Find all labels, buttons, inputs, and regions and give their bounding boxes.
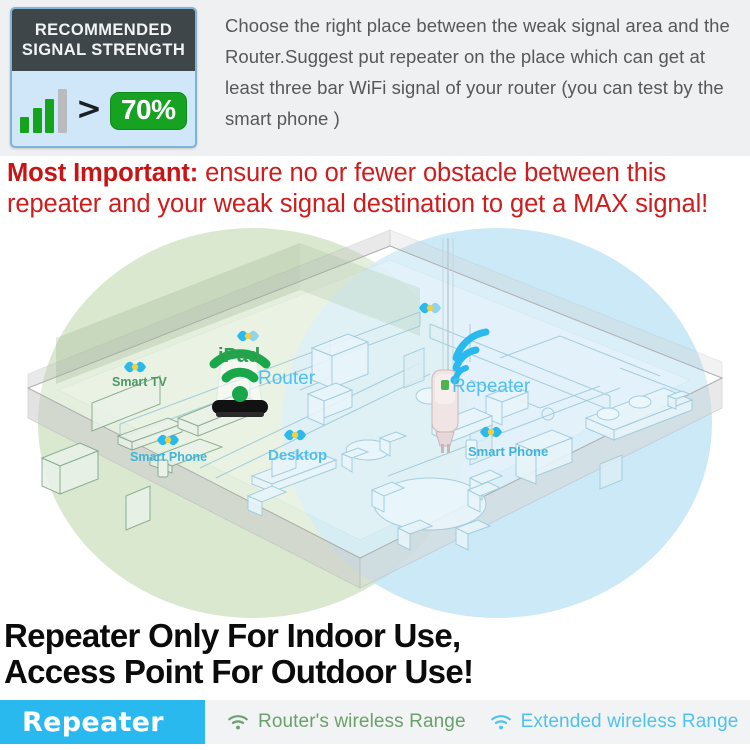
label-repeater: Repeater (452, 376, 531, 397)
legend-label-extended-range: Extended wireless Range (521, 711, 739, 733)
floorplan-diagram: Smart TV iPad Router Repeater Smart Phon… (0, 228, 750, 618)
headline-line2: Access Point For Outdoor Use! (4, 654, 750, 690)
infographic-page: RECOMMENDED SIGNAL STRENGTH > 70% Choose… (0, 0, 750, 750)
badge-body: > 70% (12, 71, 195, 148)
signal-bar-3 (45, 99, 54, 133)
percent-badge: 70% (110, 92, 187, 130)
label-desktop: Desktop (268, 447, 327, 464)
signal-bar-1 (20, 117, 29, 133)
wifi-icon (227, 714, 249, 731)
label-ipad: iPad (218, 345, 260, 367)
warning-lead: Most Important: (7, 159, 198, 187)
wifi-icon (490, 714, 512, 731)
label-router: Router (258, 368, 316, 389)
badge-header: RECOMMENDED SIGNAL STRENGTH (12, 9, 195, 71)
legend-label-router-range: Router's wireless Range (258, 711, 466, 733)
most-important-warning: Most Important: ensure no or fewer obsta… (7, 158, 749, 219)
bottom-legend-bar: Repeater Router's wireless Range (0, 700, 750, 744)
repeater-tag-label: Repeater (22, 707, 164, 738)
badge-title-line2: SIGNAL STRENGTH (22, 40, 185, 60)
indoor-outdoor-headline: Repeater Only For Indoor Use, Access Poi… (4, 618, 750, 690)
legend-item-router-range: Router's wireless Range (227, 711, 466, 733)
label-smart-phone-left: Smart Phone (130, 450, 207, 464)
top-info-strip: RECOMMENDED SIGNAL STRENGTH > 70% Choose… (0, 0, 750, 156)
badge-title-line1: RECOMMENDED (35, 20, 172, 40)
signal-bar-2 (33, 108, 42, 133)
signal-bars-icon (20, 89, 67, 133)
recommended-signal-strength-badge: RECOMMENDED SIGNAL STRENGTH > 70% (10, 7, 197, 148)
legend-item-extended-range: Extended wireless Range (490, 711, 739, 733)
label-smart-tv: Smart TV (112, 375, 168, 389)
legend-items: Router's wireless Range Extended wireles… (205, 700, 750, 744)
legend-bottom-spacer (0, 744, 750, 750)
label-smart-phone-right: Smart Phone (468, 444, 548, 459)
intro-paragraph: Choose the right place between the weak … (225, 10, 745, 134)
headline-line1: Repeater Only For Indoor Use, (4, 618, 750, 654)
repeater-tag: Repeater (0, 700, 205, 744)
signal-bar-4-inactive (58, 89, 67, 133)
greater-than-symbol: > (76, 94, 102, 125)
